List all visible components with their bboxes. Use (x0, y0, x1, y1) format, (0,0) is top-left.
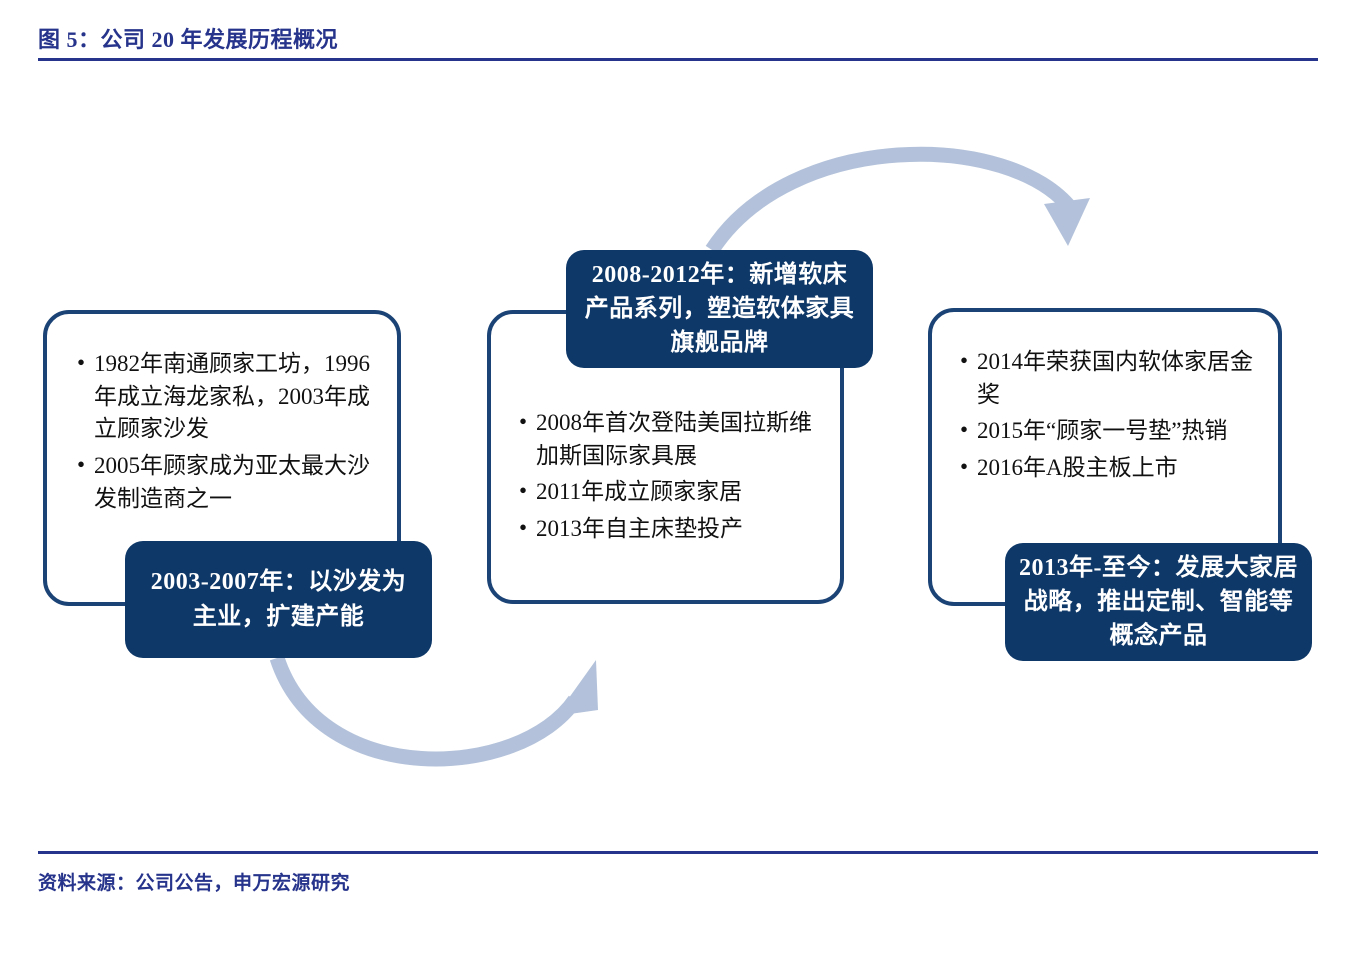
source-note: 资料来源：公司公告，申万宏源研究 (38, 868, 350, 895)
arrow-stage2-to-stage3-icon (712, 154, 1090, 250)
list-item: 2016年A股主板上市 (960, 452, 1264, 485)
stage-1-bullet-list: 1982年南通顾家工坊，1996年成立海龙家私，2003年成立顾家沙发 2005… (47, 314, 397, 515)
list-item: 2013年自主床垫投产 (519, 513, 826, 546)
stage-plate-2-label: 2008-2012年：新增软床产品系列，塑造软体家具旗舰品牌 (566, 258, 873, 360)
list-item: 2014年荣获国内软体家居金奖 (960, 346, 1264, 411)
list-item: 2015年“顾家一号垫”热销 (960, 415, 1264, 448)
list-item: 2008年首次登陆美国拉斯维加斯国际家具展 (519, 407, 826, 472)
timeline-diagram: 1982年南通顾家工坊，1996年成立海龙家私，2003年成立顾家沙发 2005… (0, 0, 1356, 956)
stage-plate-3[interactable]: 2013年-至今：发展大家居战略，推出定制、智能等概念产品 (1005, 543, 1312, 661)
list-item: 1982年南通顾家工坊，1996年成立海龙家私，2003年成立顾家沙发 (77, 348, 379, 446)
stage-plate-2[interactable]: 2008-2012年：新增软床产品系列，塑造软体家具旗舰品牌 (566, 250, 873, 368)
stage-3-bullet-list: 2014年荣获国内软体家居金奖 2015年“顾家一号垫”热销 2016年A股主板… (932, 312, 1278, 485)
footer-divider (38, 851, 1318, 854)
arrow-stage1-to-stage2-icon (277, 658, 598, 759)
stage-plate-3-label: 2013年-至今：发展大家居战略，推出定制、智能等概念产品 (1005, 551, 1312, 653)
stage-plate-1-label: 2003-2007年：以沙发为主业，扩建产能 (125, 565, 432, 633)
list-item: 2005年顾家成为亚太最大沙发制造商之一 (77, 450, 379, 515)
list-item: 2011年成立顾家家居 (519, 476, 826, 509)
stage-plate-1[interactable]: 2003-2007年：以沙发为主业，扩建产能 (125, 541, 432, 658)
